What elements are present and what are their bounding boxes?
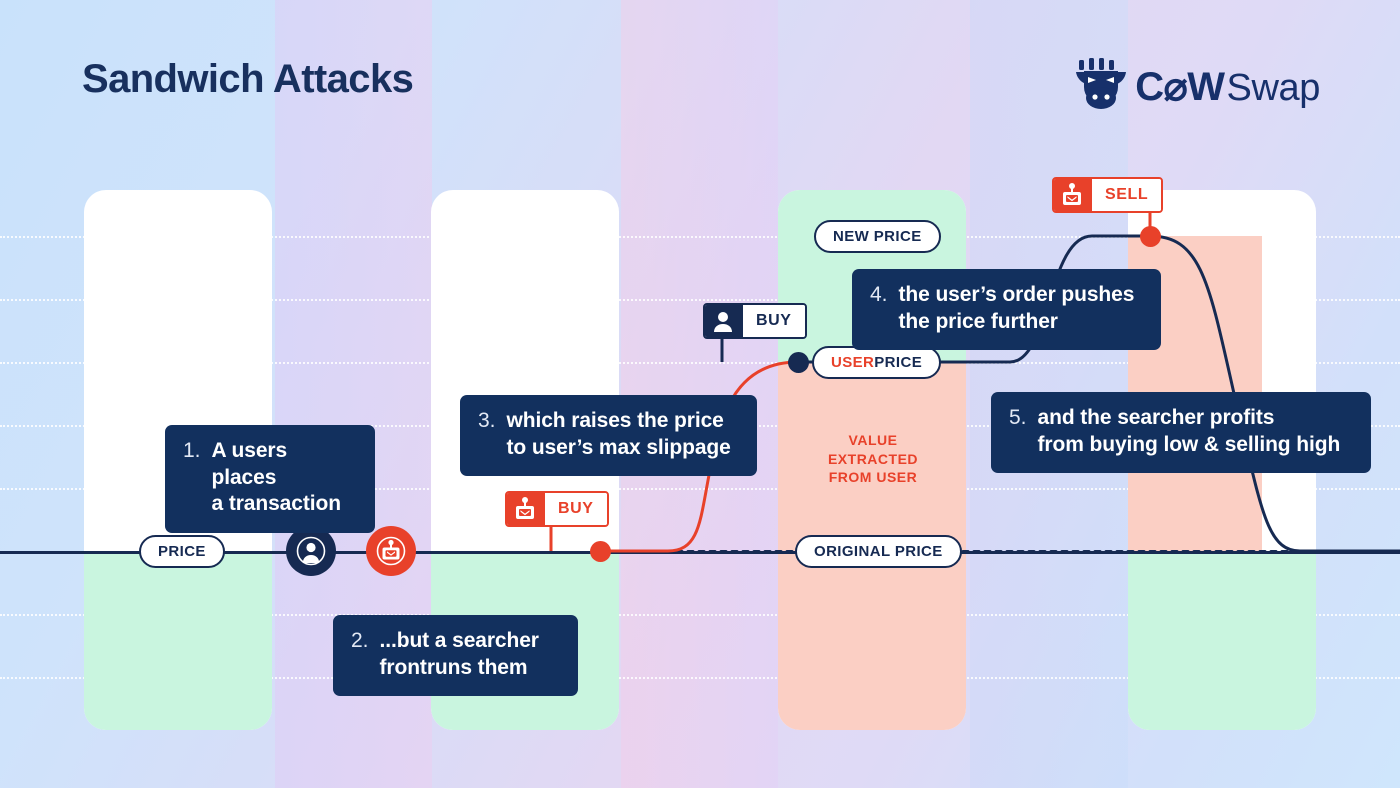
- person-icon: [296, 536, 326, 566]
- robot-icon: [1054, 179, 1090, 211]
- user-price-label-price: PRICE: [874, 354, 922, 371]
- robot-icon: [376, 535, 406, 567]
- step-callout-2: 2. ...but a searcher frontruns them: [333, 615, 578, 696]
- column-mint-region: [1128, 552, 1316, 730]
- order-badge-label: SELL: [1090, 179, 1161, 211]
- step-text: the user’s order pushes the price furthe…: [899, 282, 1135, 335]
- searcher-avatar: [366, 526, 416, 576]
- value-extracted-label: VALUE EXTRACTED FROM USER: [798, 431, 948, 487]
- price-label-price: PRICE: [139, 535, 225, 568]
- order-badge-user-buy[interactable]: BUY: [703, 303, 807, 339]
- step-text: A users places a transaction: [212, 438, 357, 518]
- user-avatar: [286, 526, 336, 576]
- robot-icon: [507, 493, 543, 525]
- marker-searcher-sell: [1140, 226, 1161, 247]
- step-number: 3.: [478, 408, 496, 435]
- step-number: 5.: [1009, 405, 1027, 432]
- price-label-user-price: USER PRICE: [812, 346, 941, 379]
- step-callout-4: 4. the user’s order pushes the price fur…: [852, 269, 1161, 350]
- step-callout-3: 3. which raises the price to user’s max …: [460, 395, 757, 476]
- price-label-text: PRICE: [158, 543, 206, 560]
- infographic-canvas: Sandwich Attacks: [0, 0, 1400, 788]
- cow-head-icon: [1076, 58, 1126, 115]
- logo-cow-text: C⌀W: [1135, 64, 1224, 110]
- order-badge-searcher-buy[interactable]: BUY: [505, 491, 609, 527]
- step-number: 1.: [183, 438, 201, 465]
- price-label-new-price: NEW PRICE: [814, 220, 941, 253]
- step-number: 4.: [870, 282, 888, 309]
- step-text: ...but a searcher frontruns them: [380, 628, 539, 681]
- price-label-original-price: ORIGINAL PRICE: [795, 535, 962, 568]
- marker-searcher-buy: [590, 541, 611, 562]
- order-badge-label: BUY: [741, 305, 805, 337]
- logo-swap-text: Swap: [1227, 67, 1320, 110]
- cowswap-logo: C⌀W Swap: [1076, 58, 1320, 115]
- step-text: which raises the price to user’s max sli…: [507, 408, 731, 461]
- order-badge-searcher-sell[interactable]: SELL: [1052, 177, 1163, 213]
- person-icon: [705, 305, 741, 337]
- step-callout-5: 5. and the searcher profits from buying …: [991, 392, 1371, 473]
- step-callout-1: 1. A users places a transaction: [165, 425, 375, 533]
- order-badge-label: BUY: [543, 493, 607, 525]
- step-text: and the searcher profits from buying low…: [1038, 405, 1341, 458]
- marker-user-buy: [788, 352, 809, 373]
- new-price-label-text: NEW PRICE: [833, 228, 922, 245]
- user-price-label-user: USER: [831, 354, 874, 371]
- step-number: 2.: [351, 628, 369, 655]
- band-2: [621, 0, 778, 788]
- column-mint-region: [84, 552, 272, 730]
- original-price-label-text: ORIGINAL PRICE: [814, 543, 943, 560]
- page-title: Sandwich Attacks: [82, 57, 413, 102]
